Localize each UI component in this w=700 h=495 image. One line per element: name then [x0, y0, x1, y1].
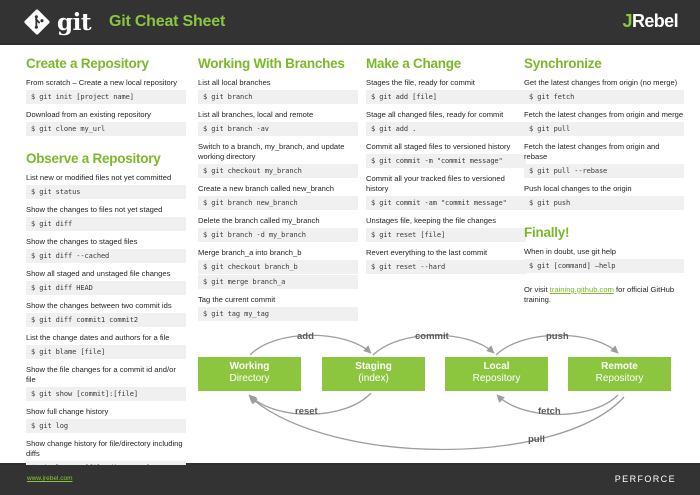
arrow-label-push: push [546, 331, 569, 342]
git-logo: git [24, 9, 91, 35]
node-title: Staging [322, 361, 425, 373]
jrebel-logo: JRebel [623, 11, 678, 32]
column-make-a-change: Make a ChangeStages the file, ready for … [366, 57, 526, 280]
command-description: Commit all staged files to versioned his… [366, 142, 526, 152]
node-title: Working [198, 361, 301, 373]
command-snippet[interactable]: $ git commit -am "commit message" [366, 196, 526, 210]
command-description: Create a new branch called new_branch [198, 184, 358, 194]
command-description: Delete the branch called my_branch [198, 216, 358, 226]
git-wordmark: git [57, 11, 91, 34]
command-snippet[interactable]: $ git init [project name] [26, 90, 186, 104]
node-subtitle: Repository [568, 373, 671, 385]
cheat-sheet-page: git Git Cheat Sheet JRebel Create a Repo… [0, 0, 700, 495]
command-description: Show the changes to files not yet staged [26, 205, 186, 215]
command-snippet[interactable]: $ git reset --hard [366, 260, 526, 274]
command-description: Switch to a branch, my_branch, and updat… [198, 142, 358, 162]
command-snippet[interactable]: $ git merge branch_a [198, 275, 358, 289]
node-working-directory: Working Directory [198, 357, 301, 391]
node-title: Remote [568, 361, 671, 373]
node-local-repository: Local Repository [445, 357, 548, 391]
perforce-logo: PERFORCE [615, 474, 676, 484]
section-title: Make a Change [366, 57, 526, 72]
command-snippet[interactable]: $ git status [26, 185, 186, 199]
command-snippet[interactable]: $ git branch [198, 90, 358, 104]
git-diamond-icon [24, 9, 50, 35]
command-description: Merge branch_a into branch_b [198, 248, 358, 258]
arrow-label-fetch: fetch [538, 406, 561, 417]
command-snippet[interactable]: $ git diff [26, 217, 186, 231]
section-title: Create a Repository [26, 57, 186, 72]
command-snippet[interactable]: $ git push [524, 196, 684, 210]
command-description: Unstages file, keeping the file changes [366, 216, 526, 226]
section-title: Working With Branches [198, 57, 358, 72]
command-snippet[interactable]: $ git branch -av [198, 122, 358, 136]
command-description: Revert everything to the last commit [366, 248, 526, 258]
section-title: Observe a Repository [26, 152, 186, 167]
command-snippet[interactable]: $ git pull --rebase [524, 164, 684, 178]
node-subtitle: Directory [198, 373, 301, 385]
command-snippet[interactable]: $ git checkout my_branch [198, 164, 358, 178]
command-snippet[interactable]: $ git fetch [524, 90, 684, 104]
node-subtitle: (index) [322, 373, 425, 385]
command-description: Download from an existing repository [26, 110, 186, 120]
command-description: Fetch the latest changes from origin and… [524, 110, 684, 120]
command-description: When in doubt, use git help [524, 247, 684, 257]
arrow-label-commit: commit [415, 331, 449, 342]
column-synchronize: SynchronizeGet the latest changes from o… [524, 57, 684, 307]
command-description: List new or modified files not yet commi… [26, 173, 186, 183]
node-remote-repository: Remote Repository [568, 357, 671, 391]
command-description: Show all staged and unstaged file change… [26, 269, 186, 279]
command-snippet[interactable]: $ git add [file] [366, 90, 526, 104]
command-description: List all local branches [198, 78, 358, 88]
node-subtitle: Repository [445, 373, 548, 385]
node-staging-index: Staging (index) [322, 357, 425, 391]
command-snippet[interactable]: $ git clone my_url [26, 122, 186, 136]
arrow-label-add: add [297, 331, 314, 342]
command-description: List all branches, local and remote [198, 110, 358, 120]
command-description: Stage all changed files, ready for commi… [366, 110, 526, 120]
footnote-pre: Or visit [524, 285, 550, 294]
jrebel-rebel: Rebel [632, 11, 678, 31]
command-description: Push local changes to the origin [524, 184, 684, 194]
page-footer: www.jrebel.com PERFORCE [0, 465, 700, 495]
command-snippet[interactable]: $ git branch new_branch [198, 196, 358, 210]
command-snippet[interactable]: $ git checkout branch_b [198, 260, 358, 274]
page-header: git Git Cheat Sheet JRebel [0, 0, 700, 43]
command-description: Stages the file, ready for commit [366, 78, 526, 88]
command-description: Show the changes between two commit ids [26, 301, 186, 311]
command-description: Tag the current commit [198, 295, 358, 305]
git-workflow-diagram: Working Directory Staging (index) Local … [0, 317, 700, 462]
columns-container: Create a RepositoryFrom scratch – Create… [0, 45, 700, 325]
command-snippet[interactable]: $ git pull [524, 122, 684, 136]
command-snippet[interactable]: $ git reset [file] [366, 228, 526, 242]
command-snippet[interactable]: $ git diff HEAD [26, 281, 186, 295]
command-description: Get the latest changes from origin (no m… [524, 78, 684, 88]
footer-link-jrebel[interactable]: www.jrebel.com [27, 475, 73, 482]
section-title: Synchronize [524, 57, 684, 72]
command-snippet[interactable]: $ git [command] –help [524, 259, 684, 273]
command-description: Fetch the latest changes from origin and… [524, 142, 684, 162]
command-description: Show the changes to staged files [26, 237, 186, 247]
page-title: Git Cheat Sheet [109, 13, 225, 31]
arrow-label-reset: reset [295, 406, 318, 417]
node-title: Local [445, 361, 548, 373]
command-snippet[interactable]: $ git branch -d my_branch [198, 228, 358, 242]
training-github-link[interactable]: training.github.com [550, 285, 614, 294]
arrow-label-pull: pull [528, 434, 545, 445]
command-snippet[interactable]: $ git add . [366, 122, 526, 136]
jrebel-j: J [623, 11, 632, 31]
command-description: From scratch – Create a new local reposi… [26, 78, 186, 88]
footnote: Or visit training.github.com for officia… [524, 285, 684, 305]
section-title: Finally! [524, 226, 684, 241]
command-snippet[interactable]: $ git commit -m "commit message" [366, 154, 526, 168]
command-description: Commit all your tracked files to version… [366, 174, 526, 194]
command-snippet[interactable]: $ git diff --cached [26, 249, 186, 263]
cheat-sheet-body: Create a RepositoryFrom scratch – Create… [0, 43, 700, 465]
column-branches: Working With BranchesList all local bran… [198, 57, 358, 327]
